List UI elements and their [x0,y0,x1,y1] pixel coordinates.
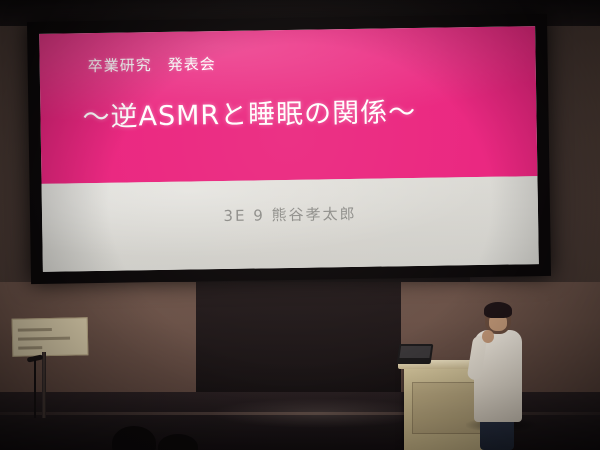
slide-banner: 卒業研究 発表会 〜逆ASMRと睡眠の関係〜 [39,26,537,184]
laptop-icon [397,344,434,364]
wall-sign-line [18,328,52,332]
wall-sign-left [12,317,89,357]
wall-sign-line [18,346,42,350]
projection-screen-surface: 卒業研究 発表会 〜逆ASMRと睡眠の関係〜 3E 9 熊谷孝太郎 [39,26,539,272]
photo-scene: 卒業研究 発表会 〜逆ASMRと睡眠の関係〜 3E 9 熊谷孝太郎 [0,0,600,450]
slide-eyebrow-text: 卒業研究 発表会 [88,53,216,76]
laptop-screen [399,346,431,358]
presenter-hair [484,302,512,318]
presenter-hand [482,330,494,343]
slide-title-text: 〜逆ASMRと睡眠の関係〜 [82,90,416,134]
projection-screen: 卒業研究 発表会 〜逆ASMRと睡眠の関係〜 3E 9 熊谷孝太郎 [27,14,551,284]
wall-sign-line [18,337,70,341]
microphone-stand [34,360,36,418]
presentation-slide: 卒業研究 発表会 〜逆ASMRと睡眠の関係〜 3E 9 熊谷孝太郎 [39,26,539,272]
slide-lower-panel: 3E 9 熊谷孝太郎 [42,176,539,272]
slide-presenter-text: 3E 9 熊谷孝太郎 [42,200,538,229]
wall-post [42,352,46,418]
